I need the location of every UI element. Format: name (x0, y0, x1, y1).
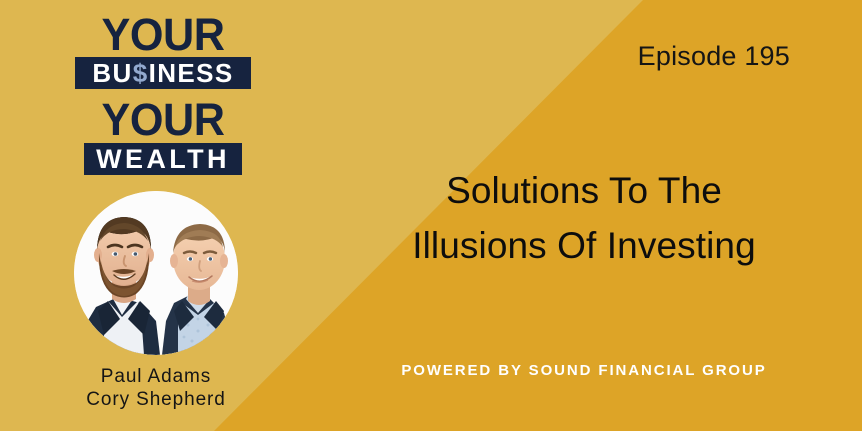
podcast-episode-cover: YOUR BU$INESS YOUR WEALTH (0, 0, 862, 431)
powered-by-label: POWERED BY SOUND FINANCIAL GROUP (306, 362, 862, 379)
logo-business-prefix: BU (92, 58, 132, 88)
logo-word-your-top: YOUR (79, 14, 248, 55)
logo-bar-wealth: WEALTH (84, 143, 242, 175)
show-logo: YOUR BU$INESS YOUR WEALTH (75, 14, 251, 175)
episode-number-label: Episode 195 (638, 41, 790, 72)
episode-title: Solutions To The Illusions Of Investing (306, 163, 862, 273)
logo-word-your-bottom: YOUR (79, 99, 248, 140)
episode-title-line-1: Solutions To The (306, 163, 862, 218)
host-name-primary: Paul Adams (0, 365, 312, 388)
hosts-portrait-photo (74, 191, 238, 355)
logo-bar-business: BU$INESS (75, 57, 251, 89)
episode-title-line-2: Illusions Of Investing (306, 218, 862, 273)
hosts-portrait-illustration (74, 191, 238, 355)
host-name-secondary: Cory Shepherd (0, 388, 312, 411)
hosts-names: Paul Adams Cory Shepherd (0, 365, 312, 411)
logo-business-suffix: INESS (149, 58, 234, 88)
dollar-sign-icon: $ (133, 58, 149, 88)
